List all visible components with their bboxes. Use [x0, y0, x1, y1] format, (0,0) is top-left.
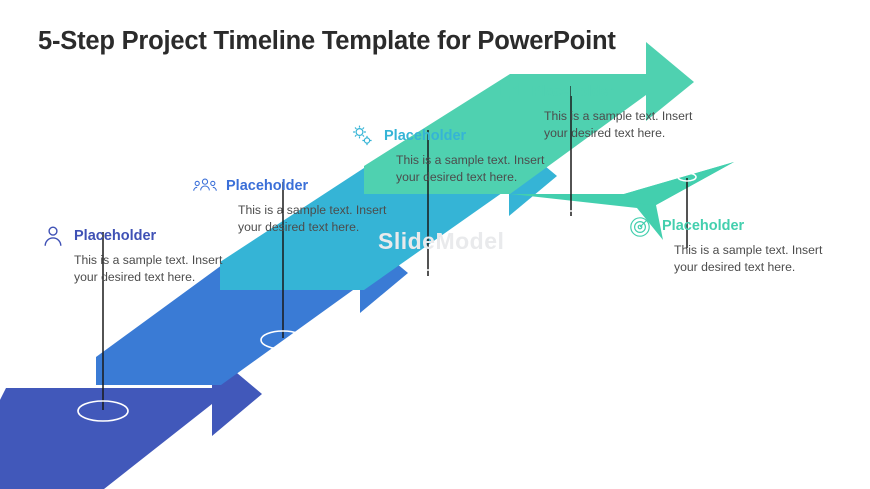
step-2-text: This is a sample text. Insert your desir… [238, 202, 398, 236]
step-3-title: Placeholder [384, 128, 466, 144]
person-icon [40, 223, 66, 249]
presentation-board-icon [498, 79, 524, 105]
step-5-text: This is a sample text. Insert your desir… [674, 242, 842, 276]
step-1-text: This is a sample text. Insert your desir… [74, 252, 234, 286]
step-3-text: This is a sample text. Insert your desir… [396, 152, 556, 186]
step-4-header: Placeholder [498, 78, 712, 106]
people-group-icon [192, 173, 218, 199]
step-5-header: Placeholder [628, 212, 842, 240]
step-4-block: Placeholder This is a sample text. Inser… [498, 78, 712, 142]
step-2-title: Placeholder [226, 178, 308, 194]
step-5-block: Placeholder This is a sample text. Inser… [628, 212, 842, 276]
step-5-title: Placeholder [662, 218, 744, 234]
slide-canvas: 5-Step Project Timeline Template for Pow… [0, 0, 870, 489]
step-4-text: This is a sample text. Insert your desir… [544, 108, 712, 142]
step-4-title: Placeholder [532, 84, 614, 100]
gears-icon [350, 123, 376, 149]
target-dart-icon [628, 213, 654, 239]
step-1-title: Placeholder [74, 228, 156, 244]
